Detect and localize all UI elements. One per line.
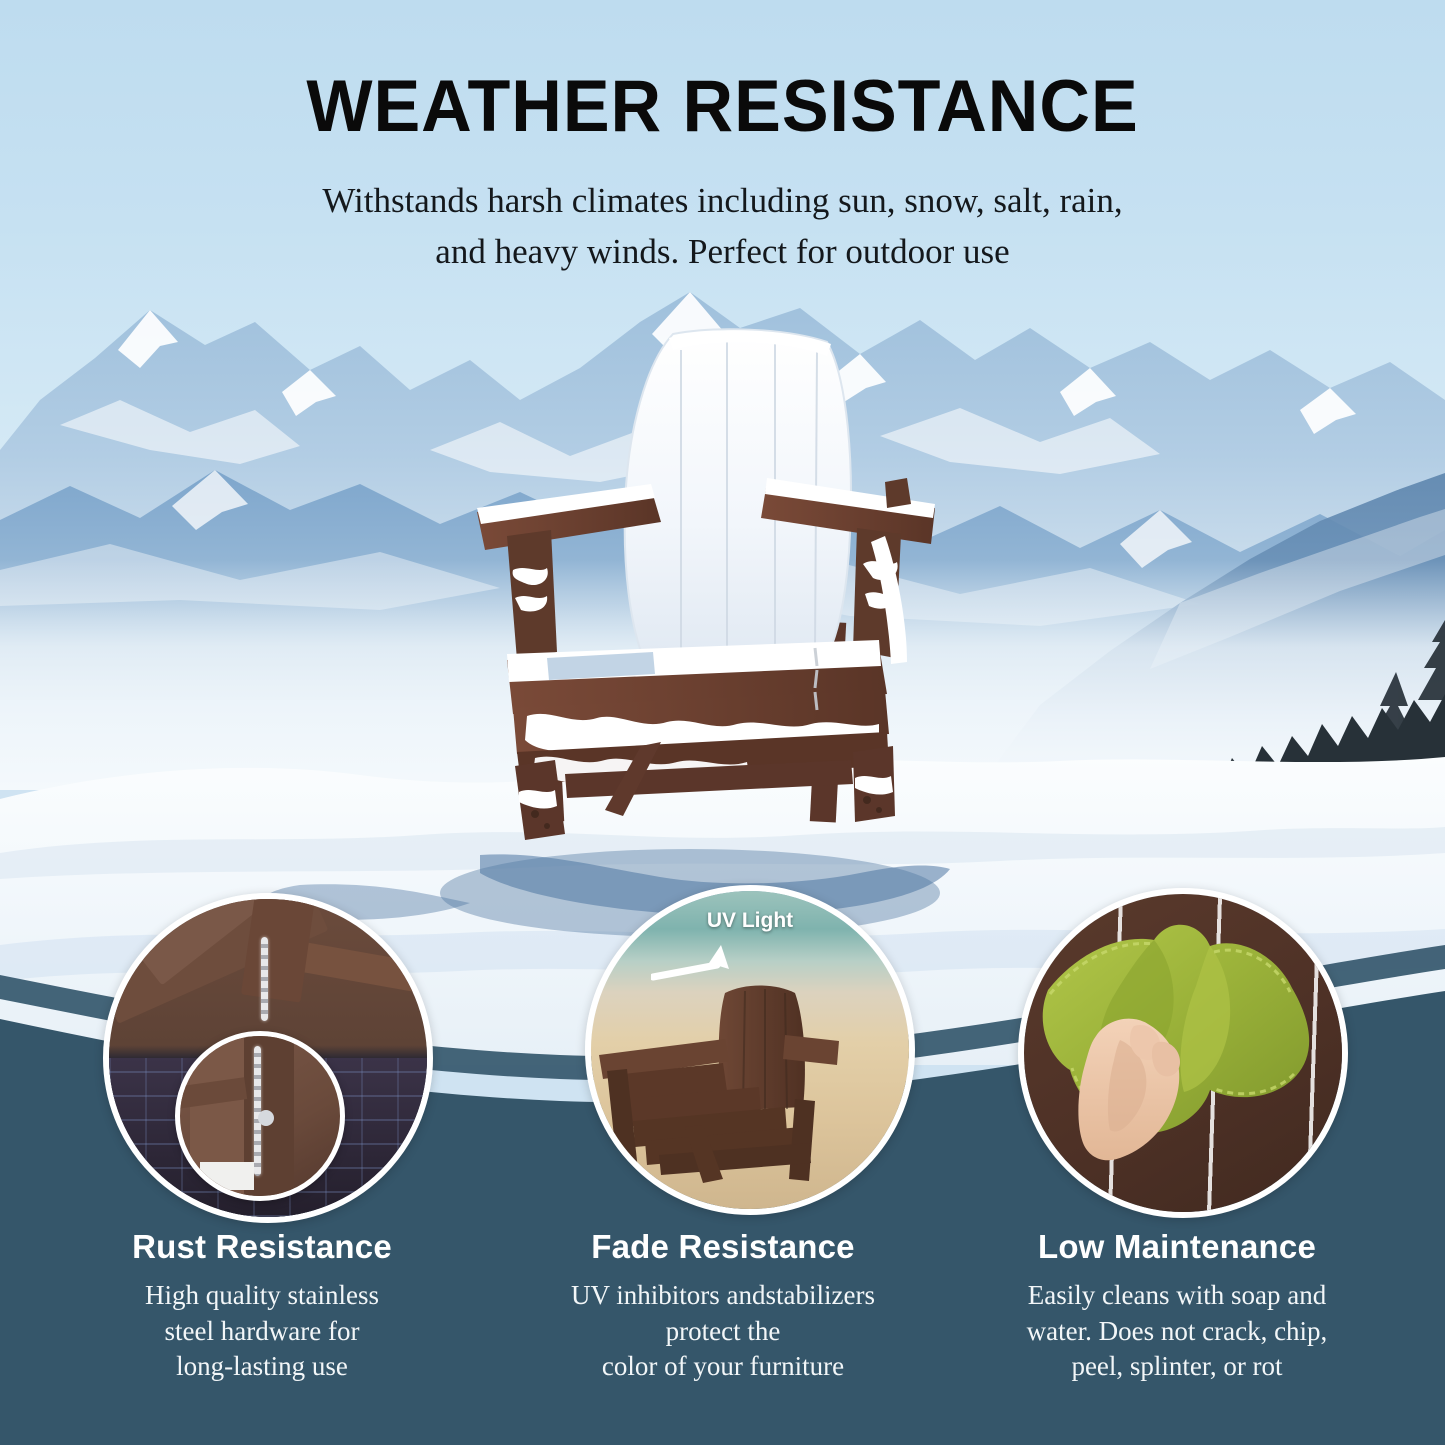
inset-white-edge — [200, 1162, 254, 1190]
feature-text-rust-resistance: Rust Resistance High quality stainless s… — [62, 1228, 462, 1385]
subtitle-line-1: Withstands harsh climates including sun,… — [0, 175, 1445, 226]
feature-body-line: peel, splinter, or rot — [977, 1349, 1377, 1385]
feature-body-line: protect the — [523, 1314, 923, 1350]
beach-chair-illustration — [599, 979, 899, 1203]
feature-body-line: color of your furniture — [523, 1349, 923, 1385]
feature-image-fade-resistance: UV Light — [585, 885, 915, 1215]
weather-resistance-poster: WEATHER RESISTANCE Withstands harsh clim… — [0, 0, 1445, 1445]
feature-body-line: UV inhibitors andstabilizers — [523, 1278, 923, 1314]
feature-title: Fade Resistance — [523, 1228, 923, 1266]
uv-light-label: UV Light — [591, 909, 909, 933]
feature-body: High quality stainless steel hardware fo… — [62, 1278, 462, 1385]
chain-magnifier-inset — [175, 1031, 345, 1201]
subtitle-line-2: and heavy winds. Perfect for outdoor use — [0, 226, 1445, 277]
hero-snow-chair — [455, 322, 955, 842]
feature-text-low-maintenance: Low Maintenance Easily cleans with soap … — [977, 1228, 1377, 1385]
feature-body: UV inhibitors andstabilizers protect the… — [523, 1278, 923, 1385]
feature-image-rust-resistance — [103, 893, 433, 1223]
feature-title: Low Maintenance — [977, 1228, 1377, 1266]
steel-chain — [261, 937, 268, 1021]
feature-body-line: steel hardware for — [62, 1314, 462, 1350]
feature-title: Rust Resistance — [62, 1228, 462, 1266]
hand-with-cloth-illustration — [1024, 894, 1342, 1212]
feature-text-fade-resistance: Fade Resistance UV inhibitors andstabili… — [523, 1228, 923, 1385]
feature-image-low-maintenance — [1018, 888, 1348, 1218]
feature-body-line: long-lasting use — [62, 1349, 462, 1385]
feature-body-line: water. Does not crack, chip, — [977, 1314, 1377, 1350]
page-subtitle: Withstands harsh climates including sun,… — [0, 175, 1445, 277]
feature-body-line: Easily cleans with soap and — [977, 1278, 1377, 1314]
feature-body: Easily cleans with soap and water. Does … — [977, 1278, 1377, 1385]
feature-body-line: High quality stainless — [62, 1278, 462, 1314]
page-title: WEATHER RESISTANCE — [29, 70, 1416, 143]
chain-ball — [258, 1110, 274, 1126]
